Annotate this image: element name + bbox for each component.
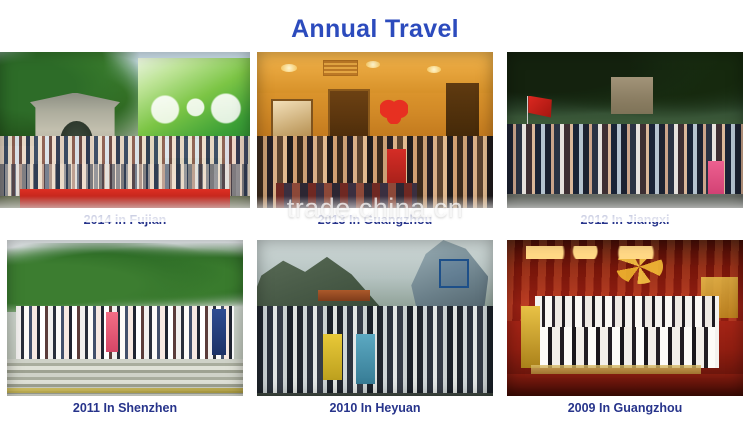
photo-door <box>328 89 370 140</box>
photo-teal-shirt <box>356 334 375 384</box>
photo-pink-shirt <box>106 312 118 353</box>
photo-2014-fujian[interactable] <box>0 52 250 208</box>
photo-ceiling-light <box>427 66 441 73</box>
photo-ground <box>507 194 743 208</box>
photo-blue-shirt <box>212 309 226 356</box>
photo-caption: 2012 In Jiangxi <box>500 212 750 228</box>
photo-caption: 2009 In Guangzhou <box>500 400 750 416</box>
photo-caption: 2011 In Shenzhen <box>0 400 250 416</box>
photo-red-banner <box>20 189 230 208</box>
photo-row-2: 2011 In Shenzhen 2010 <box>0 240 750 428</box>
photo-roof <box>318 290 370 301</box>
photo-2010-heyuan[interactable] <box>257 240 493 396</box>
photo-grid: 2014 in Fujian <box>0 52 750 428</box>
gallery-cell-2009-guangzhou[interactable]: 2009 In Guangzhou <box>500 240 750 428</box>
photo-stage-floor <box>507 374 743 396</box>
photo-red-decoration <box>380 99 408 124</box>
photo-choir-front-row <box>540 327 715 368</box>
photo-caption: 2013 In Guangzhou <box>250 212 500 228</box>
photo-yellow-shirt <box>323 334 342 381</box>
gallery-cell-2011-shenzhen[interactable]: 2011 In Shenzhen <box>0 240 250 428</box>
photo-crowd-layer <box>257 306 493 393</box>
gallery-cell-2014-fujian[interactable]: 2014 in Fujian <box>0 52 250 240</box>
photo-building <box>611 77 653 114</box>
photo-stage-lights <box>526 246 668 258</box>
photo-performer <box>521 306 540 368</box>
photo-caption: 2010 In Heyuan <box>250 400 500 416</box>
photo-caption: 2014 in Fujian <box>0 212 250 228</box>
photo-row-1: 2014 in Fujian <box>0 52 750 240</box>
photo-trees-layer <box>7 243 243 312</box>
annual-travel-gallery-page: Annual Travel <box>0 0 750 428</box>
photo-2011-shenzhen[interactable] <box>7 240 243 396</box>
photo-2013-guangzhou[interactable] <box>257 52 493 208</box>
gallery-cell-2013-guangzhou[interactable]: 2013 In Guangzhou <box>250 52 500 240</box>
gallery-cell-2012-jiangxi[interactable]: 2012 In Jiangxi <box>500 52 750 240</box>
photo-2012-jiangxi[interactable] <box>507 52 743 208</box>
photo-2009-guangzhou[interactable] <box>507 240 743 396</box>
photo-rock-inscription <box>439 259 469 288</box>
photo-front-row <box>276 183 418 208</box>
photo-banner-characters <box>148 83 243 136</box>
photo-ceiling-vent <box>323 60 358 76</box>
photo-step-stripe <box>7 388 243 393</box>
page-title: Annual Travel <box>0 14 750 44</box>
gallery-cell-2010-heyuan[interactable]: 2010 In Heyuan <box>250 240 500 428</box>
